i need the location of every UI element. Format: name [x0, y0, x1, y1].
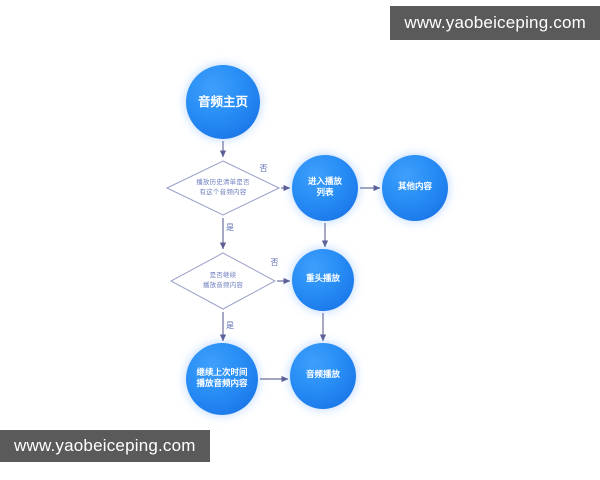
watermark-bottom: www.yaobeiceping.com [0, 430, 210, 462]
node-history-decision-label-line2: 有这个音频内容 [200, 188, 247, 196]
node-resume-play-label-line1: 继续上次时间 [196, 368, 247, 378]
node-home[interactable]: 音频主页 [186, 65, 260, 139]
node-audio-play-label: 音频播放 [300, 370, 346, 381]
node-resume-play[interactable]: 继续上次时间 播放音频内容 [186, 343, 258, 415]
node-other-content[interactable]: 其他内容 [382, 155, 448, 221]
flowchart-canvas: 音频主页 进入播放 列表 其他内容 重头播放 继续上次时间 播放音频内容 音频播… [0, 0, 600, 480]
node-continue-decision-label-line2: 播放音频内容 [203, 281, 243, 289]
watermark-top: www.yaobeiceping.com [390, 6, 600, 40]
node-enter-playlist-label-line1: 进入播放 [308, 177, 342, 187]
node-enter-playlist[interactable]: 进入播放 列表 [292, 155, 358, 221]
node-enter-playlist-label: 进入播放 列表 [302, 177, 348, 200]
node-continue-decision[interactable]: 是否继续 播放音频内容 [170, 252, 276, 310]
node-continue-decision-label-line1: 是否继续 [210, 271, 237, 279]
edge-label-history-no: 否 [259, 164, 267, 172]
edge-label-history-yes: 是 [226, 224, 234, 232]
node-history-decision-label-line1: 播放历史清单是否 [196, 178, 250, 186]
node-restart-play[interactable]: 重头播放 [292, 249, 354, 311]
node-restart-play-label: 重头播放 [300, 274, 346, 285]
node-home-label: 音频主页 [192, 94, 254, 111]
edge-label-continue-no: 否 [270, 258, 278, 266]
connector-layer [0, 0, 600, 480]
node-continue-decision-label: 是否继续 播放音频内容 [170, 252, 276, 310]
node-resume-play-label: 继续上次时间 播放音频内容 [190, 368, 253, 391]
node-other-content-label: 其他内容 [392, 182, 438, 193]
node-audio-play[interactable]: 音频播放 [290, 343, 356, 409]
edge-label-continue-yes: 是 [226, 322, 234, 330]
node-enter-playlist-label-line2: 列表 [316, 188, 333, 198]
node-resume-play-label-line2: 播放音频内容 [196, 379, 247, 389]
